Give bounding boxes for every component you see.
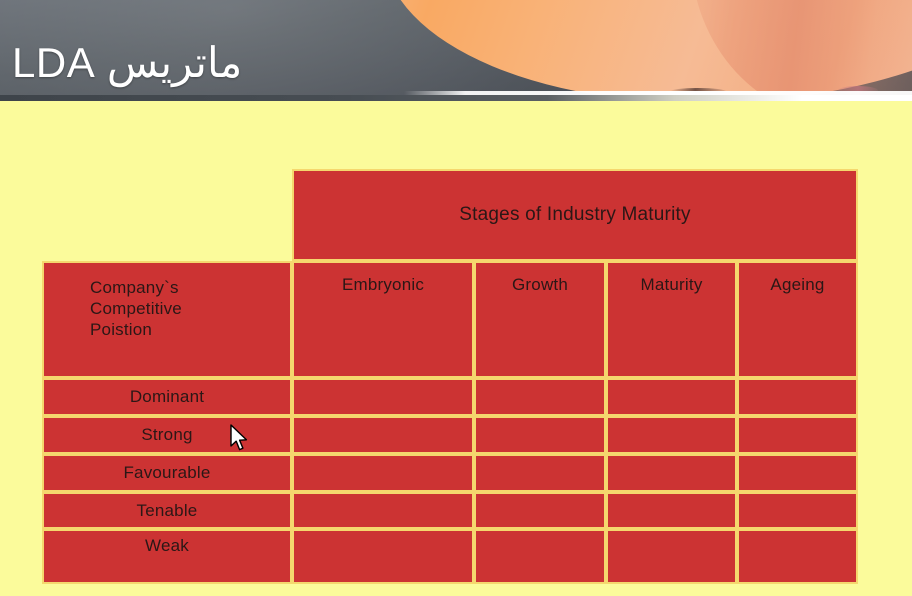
adl-matrix-table: Stages of Industry Maturity Company`s Co… [42,169,858,584]
matrix-cell[interactable] [292,454,474,492]
matrix-cell[interactable] [606,529,737,584]
matrix-cell[interactable] [292,529,474,584]
matrix-row-header-favourable: Favourable [42,454,292,492]
matrix-column-header-embryonic: Embryonic [292,261,474,378]
slide-title: ماتریس ADL [12,37,242,89]
corner-header-line-2: Competitive [90,298,182,319]
corner-header-line-1: Company`s [90,277,182,298]
matrix-cell[interactable] [474,378,606,416]
matrix-corner-header-company-competitive-position: Company`s Competitive Poistion [42,261,292,378]
matrix-cell[interactable] [606,378,737,416]
matrix-row-header-strong: Strong [42,416,292,454]
matrix-cell[interactable] [737,416,858,454]
matrix-cell[interactable] [737,378,858,416]
matrix-cell[interactable] [474,529,606,584]
matrix-cell[interactable] [606,416,737,454]
matrix-cell[interactable] [606,454,737,492]
matrix-column-header-growth: Growth [474,261,606,378]
matrix-cell[interactable] [474,416,606,454]
matrix-row-header-tenable: Tenable [42,492,292,529]
matrix-cell[interactable] [606,492,737,529]
matrix-span-header-stages-of-industry-maturity: Stages of Industry Maturity [292,169,858,261]
matrix-column-header-maturity: Maturity [606,261,737,378]
matrix-cell[interactable] [292,492,474,529]
slide-body: Stages of Industry Maturity Company`s Co… [0,101,912,596]
slide-header-banner: ماتریس ADL [0,0,912,101]
matrix-cell[interactable] [474,492,606,529]
matrix-cell[interactable] [292,416,474,454]
matrix-cell[interactable] [737,454,858,492]
matrix-cell[interactable] [737,492,858,529]
matrix-cell[interactable] [737,529,858,584]
matrix-row-header-dominant: Dominant [42,378,292,416]
matrix-cell[interactable] [292,378,474,416]
matrix-column-header-ageing: Ageing [737,261,858,378]
corner-header-line-3: Poistion [90,319,182,340]
matrix-cell[interactable] [474,454,606,492]
matrix-row-header-weak: Weak [42,529,292,584]
